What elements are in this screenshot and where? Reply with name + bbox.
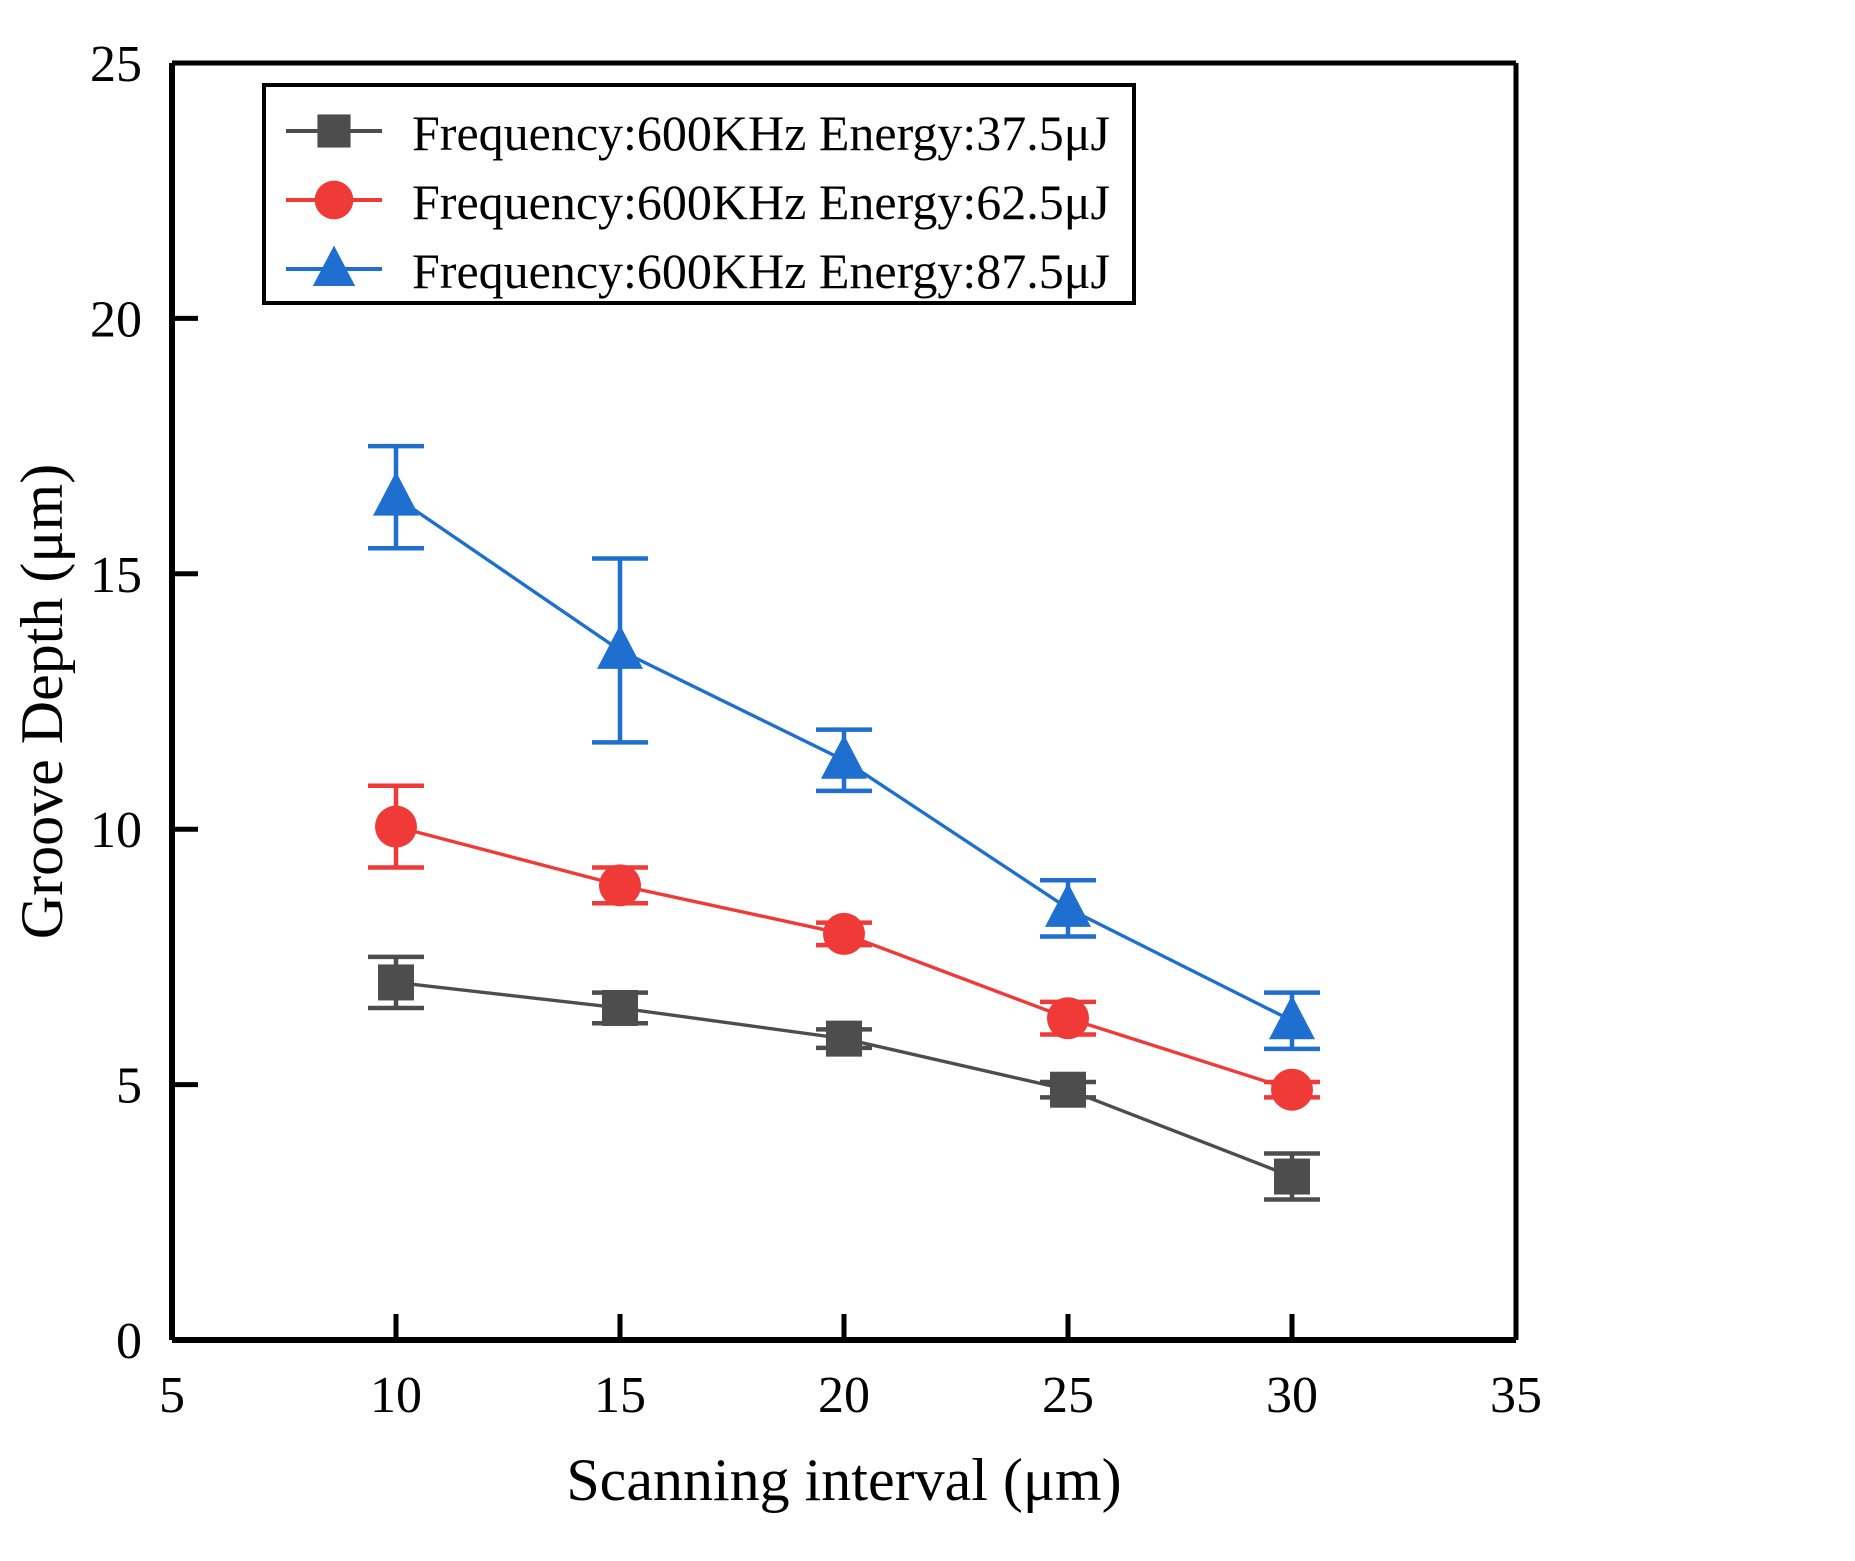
x-tick-label: 15 xyxy=(594,1367,646,1424)
series-3 xyxy=(368,446,1320,1049)
marker-triangle xyxy=(1269,995,1315,1039)
marker-triangle xyxy=(597,625,643,669)
y-tick-label: 25 xyxy=(90,36,142,93)
marker-square xyxy=(602,990,638,1026)
legend: Frequency:600KHz Energy:37.5μJFrequency:… xyxy=(264,85,1134,303)
marker-square xyxy=(1274,1159,1310,1195)
line-chart-plot: 51015202530350510152025 Frequency:600KHz… xyxy=(0,0,1855,1561)
marker-square xyxy=(317,114,350,147)
y-tick-label: 15 xyxy=(90,547,142,604)
y-axis-title: Groove Depth (μm) xyxy=(9,464,75,939)
marker-triangle xyxy=(1045,883,1091,927)
x-tick-label: 5 xyxy=(159,1367,185,1424)
series-2 xyxy=(368,786,1320,1111)
marker-circle xyxy=(1271,1069,1313,1111)
series-line xyxy=(396,982,1292,1176)
y-tick-label: 0 xyxy=(116,1313,142,1370)
marker-circle xyxy=(315,181,354,220)
marker-circle xyxy=(375,806,417,848)
x-tick-label: 35 xyxy=(1490,1367,1542,1424)
data-series-group xyxy=(368,446,1320,1199)
series-1 xyxy=(368,957,1320,1200)
legend-label: Frequency:600KHz Energy:87.5μJ xyxy=(412,243,1110,299)
x-tick-label: 30 xyxy=(1266,1367,1318,1424)
legend-label: Frequency:600KHz Energy:37.5μJ xyxy=(412,105,1110,161)
marker-square xyxy=(826,1021,862,1057)
axis-titles: Scanning interval (μm)Groove Depth (μm) xyxy=(9,464,1122,1513)
x-tick-label: 20 xyxy=(818,1367,870,1424)
x-axis-title: Scanning interval (μm) xyxy=(566,1447,1121,1513)
marker-triangle xyxy=(821,735,867,779)
x-tick-label: 25 xyxy=(1042,1367,1094,1424)
y-tick-label: 20 xyxy=(90,291,142,348)
marker-circle xyxy=(1047,997,1089,1039)
chart-figure: 51015202530350510152025 Frequency:600KHz… xyxy=(0,0,1855,1561)
marker-square xyxy=(1050,1072,1086,1108)
marker-circle xyxy=(823,913,865,955)
legend-label: Frequency:600KHz Energy:62.5μJ xyxy=(412,174,1110,230)
y-tick-label: 10 xyxy=(90,802,142,859)
x-tick-label: 10 xyxy=(370,1367,422,1424)
y-tick-label: 5 xyxy=(116,1058,142,1115)
marker-triangle xyxy=(373,472,419,516)
marker-square xyxy=(378,964,414,1000)
marker-circle xyxy=(599,864,641,906)
